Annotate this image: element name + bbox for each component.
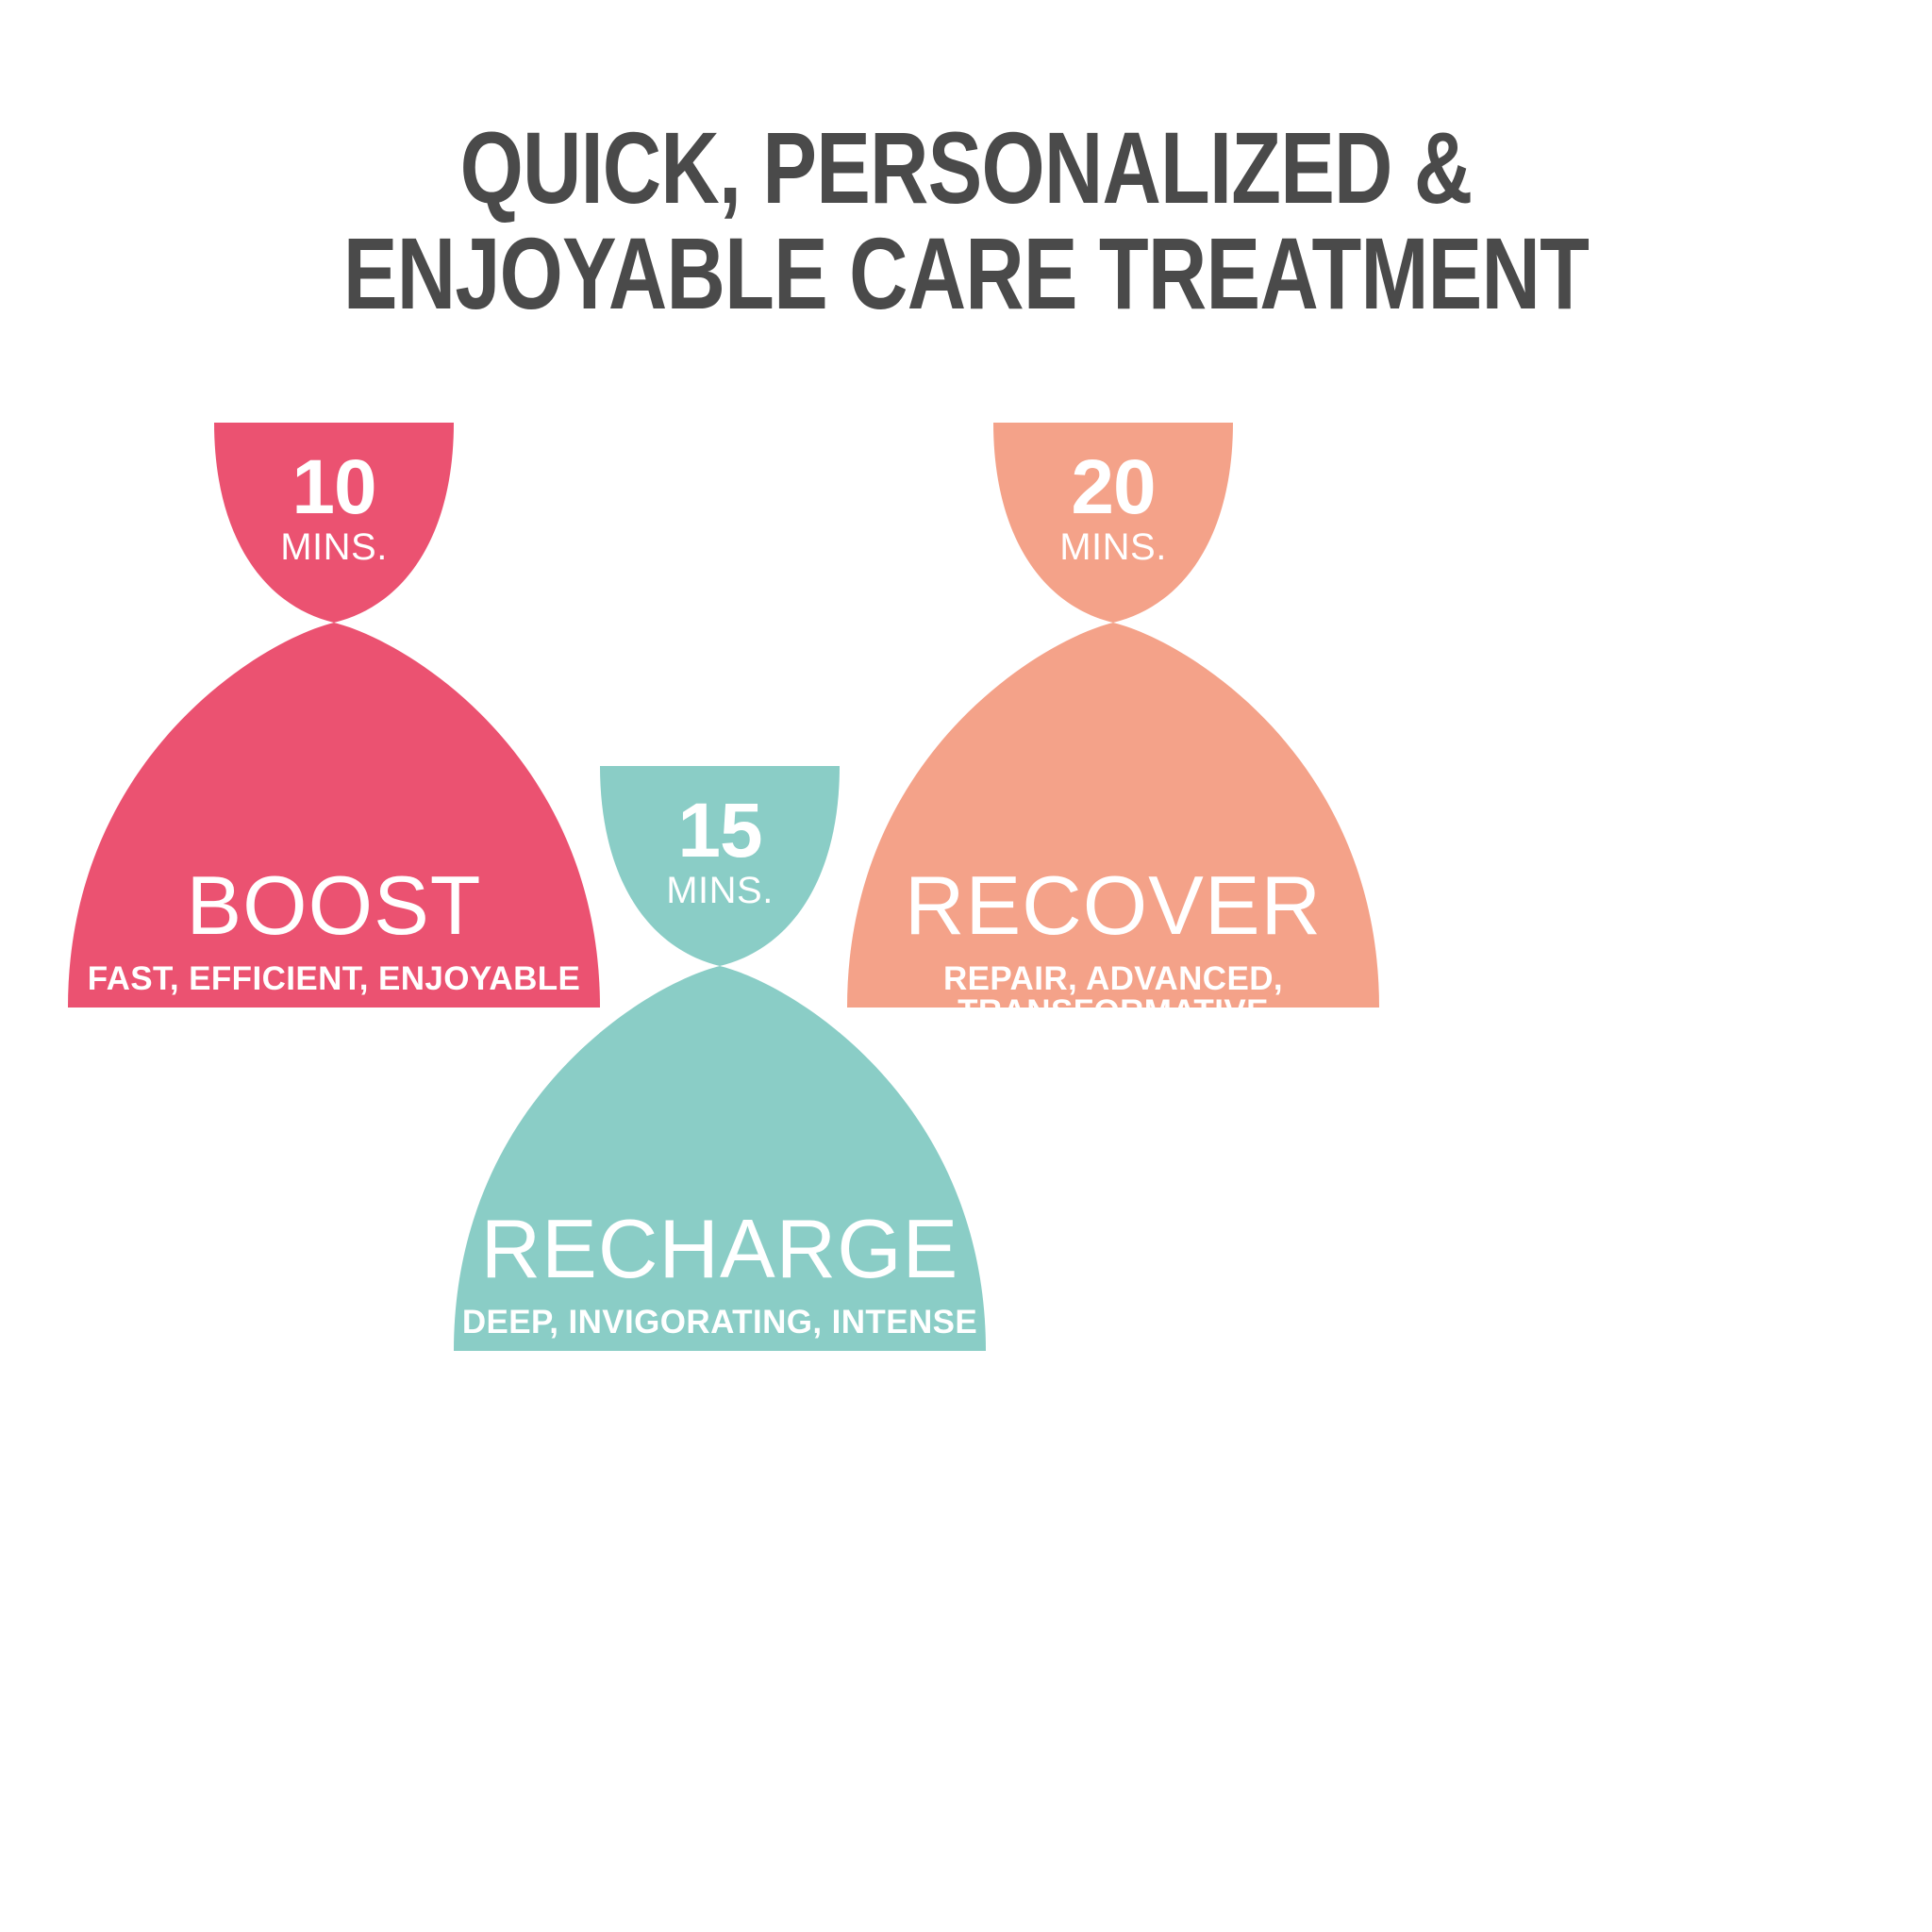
- title-line-1: QUICK, PERSONALIZED &: [193, 115, 1739, 221]
- infographic-canvas: QUICK, PERSONALIZED & ENJOYABLE CARE TRE…: [0, 0, 1932, 1932]
- hourglass-recharge-bottom-bowl: [454, 966, 986, 1351]
- hourglass-recharge-top-cone: [600, 766, 840, 966]
- hourglass-boost-top-cone: [214, 423, 454, 623]
- page-title: QUICK, PERSONALIZED & ENJOYABLE CARE TRE…: [0, 115, 1932, 326]
- hourglass-recover-bottom-bowl: [847, 623, 1379, 1008]
- hourglass-recover-top-cone: [993, 423, 1233, 623]
- hourglass-recover-shape: [847, 423, 1379, 1008]
- title-line-2: ENJOYABLE CARE TREATMENT: [193, 221, 1739, 326]
- hourglass-recover[interactable]: 20 MINS. RECOVER REPAIR, ADVANCED, TRANS…: [847, 423, 1379, 1008]
